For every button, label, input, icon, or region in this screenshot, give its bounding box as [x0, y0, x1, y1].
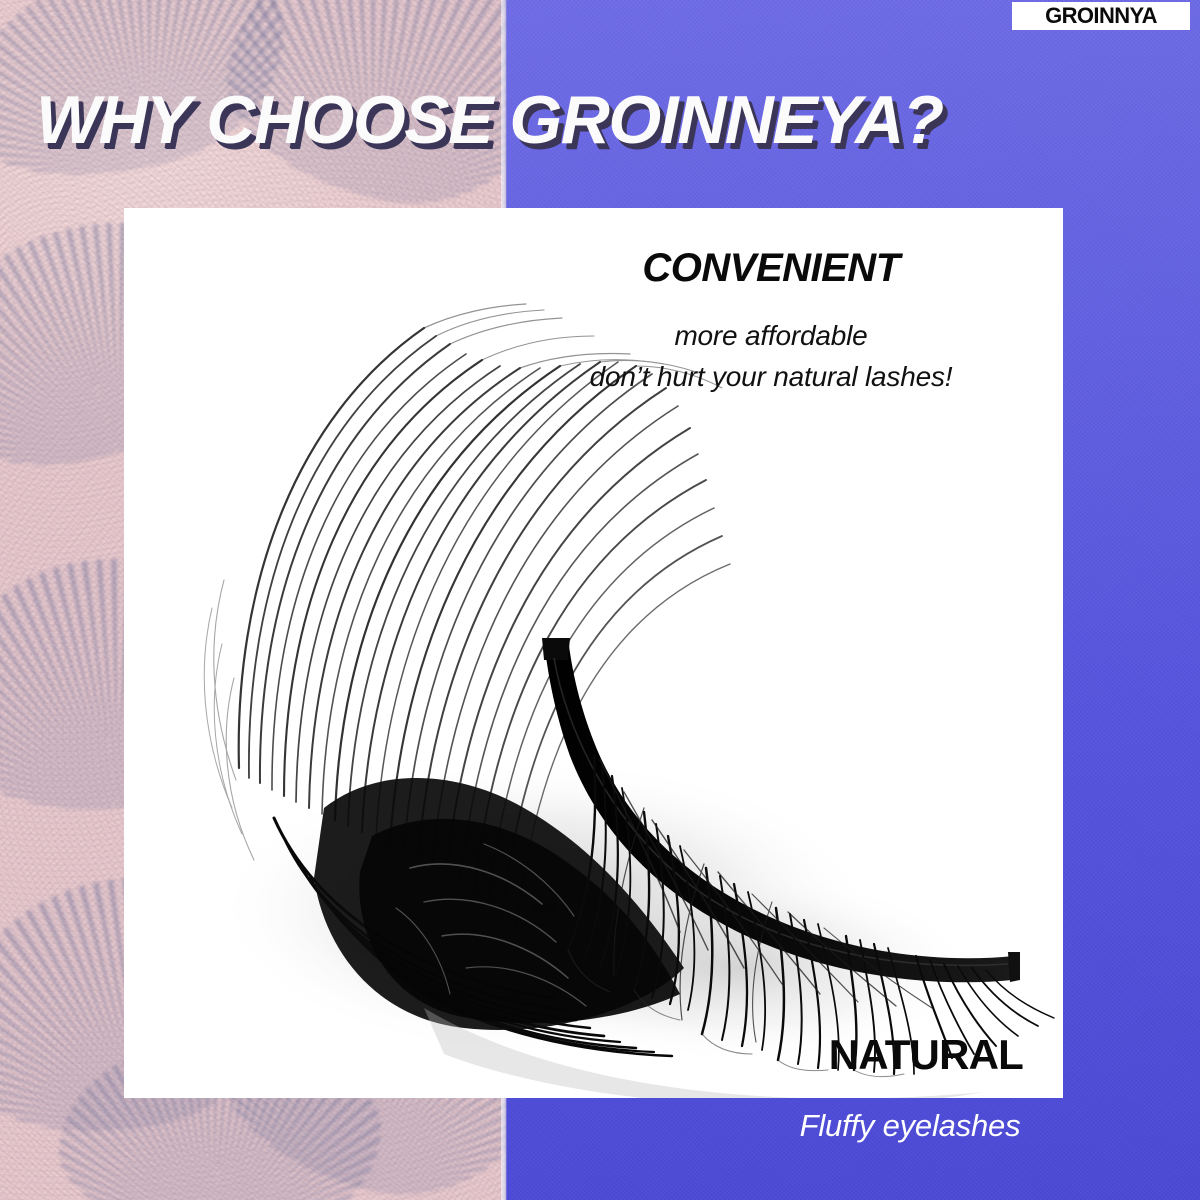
- product-card: CONVENIENT more affordable don’t hurt yo…: [124, 208, 1063, 1098]
- feature-text-block: CONVENIENT more affordable don’t hurt yo…: [511, 246, 1031, 397]
- brand-logo-text: GROINNYA: [1045, 5, 1157, 27]
- bottom-heading: NATURAL: [829, 1032, 1023, 1078]
- brand-logo-badge[interactable]: GROINNYA: [1012, 2, 1190, 30]
- feature-heading: CONVENIENT: [511, 246, 1031, 290]
- promo-canvas: GROINNYA WHY CHOOSE GROINNEYA?: [0, 0, 1200, 1200]
- feature-line-2: don’t hurt your natural lashes!: [511, 357, 1031, 398]
- product-caption: Fluffy eyelashes: [700, 1108, 1120, 1144]
- page-title: WHY CHOOSE GROINNEYA?: [36, 78, 1186, 162]
- feature-line-1: more affordable: [511, 316, 1031, 357]
